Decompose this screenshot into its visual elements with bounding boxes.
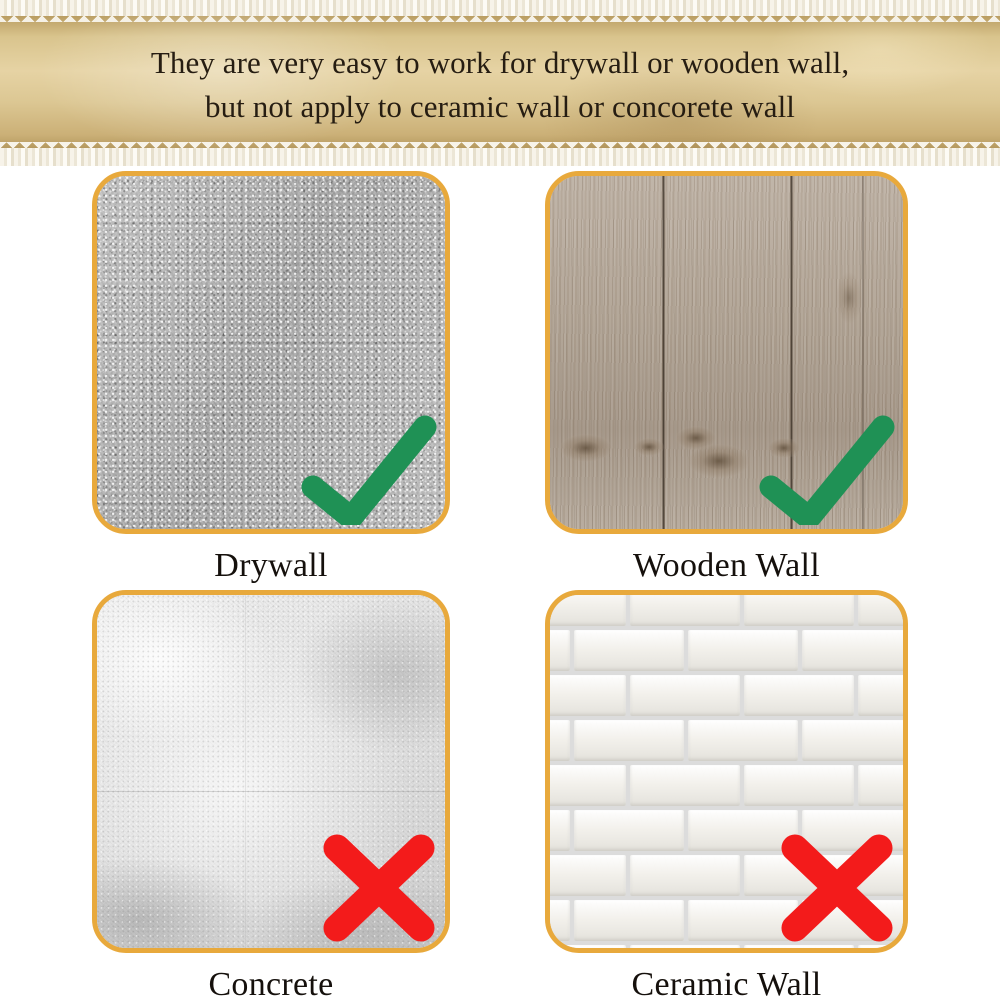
wood-knot xyxy=(634,438,664,456)
brick xyxy=(545,945,626,953)
wall-type-card-ceramic-wall: Ceramic Wall xyxy=(545,590,908,1004)
brick xyxy=(545,675,626,716)
check-icon xyxy=(757,415,897,525)
headline-banner: They are very easy to work for drywall o… xyxy=(0,0,1000,166)
cross-icon xyxy=(777,832,897,944)
brick xyxy=(545,590,626,626)
brick xyxy=(744,590,854,626)
brick xyxy=(545,900,570,941)
panel-label-concrete: Concrete xyxy=(92,966,450,1004)
brick xyxy=(744,945,854,953)
brick xyxy=(545,720,570,761)
panel-label-wooden-wall: Wooden Wall xyxy=(545,547,908,585)
brick xyxy=(858,675,908,716)
wall-type-card-concrete: Concrete xyxy=(92,590,450,1004)
brick xyxy=(858,945,908,953)
brick xyxy=(858,765,908,806)
brick xyxy=(630,590,740,626)
panel-ceramic-wall xyxy=(545,590,908,953)
brick xyxy=(574,630,684,671)
brick xyxy=(574,810,684,851)
brick xyxy=(630,945,740,953)
brick xyxy=(744,765,854,806)
brick xyxy=(545,630,570,671)
brick xyxy=(802,630,908,671)
brick xyxy=(574,720,684,761)
brick xyxy=(545,855,626,896)
concrete-seam xyxy=(97,791,445,792)
check-icon xyxy=(299,415,439,525)
banner-line-1: They are very easy to work for drywall o… xyxy=(151,43,849,83)
brick xyxy=(574,900,684,941)
brick xyxy=(744,675,854,716)
banner-text: They are very easy to work for drywall o… xyxy=(0,0,1000,166)
brick xyxy=(688,630,798,671)
wood-knot xyxy=(560,434,612,462)
brick xyxy=(630,855,740,896)
panel-drywall xyxy=(92,171,450,534)
banner-line-2: but not apply to ceramic wall or concore… xyxy=(205,87,795,127)
plank-seam xyxy=(662,176,665,529)
wall-type-grid: Drywall Wooden Wall xyxy=(0,166,1000,994)
cross-icon xyxy=(319,832,439,944)
panel-label-ceramic-wall: Ceramic Wall xyxy=(545,966,908,1004)
wall-type-card-drywall: Drywall xyxy=(92,171,450,585)
brick xyxy=(688,720,798,761)
brick xyxy=(630,675,740,716)
concrete-seam xyxy=(245,595,246,948)
wood-knot xyxy=(688,444,750,478)
panel-label-drywall: Drywall xyxy=(92,547,450,585)
brick xyxy=(545,765,626,806)
panel-concrete xyxy=(92,590,450,953)
brick xyxy=(630,765,740,806)
brick xyxy=(545,810,570,851)
panel-wooden-wall xyxy=(545,171,908,534)
wall-type-card-wooden-wall: Wooden Wall xyxy=(545,171,908,585)
wood-knot xyxy=(836,272,862,324)
brick xyxy=(802,720,908,761)
brick xyxy=(858,590,908,626)
